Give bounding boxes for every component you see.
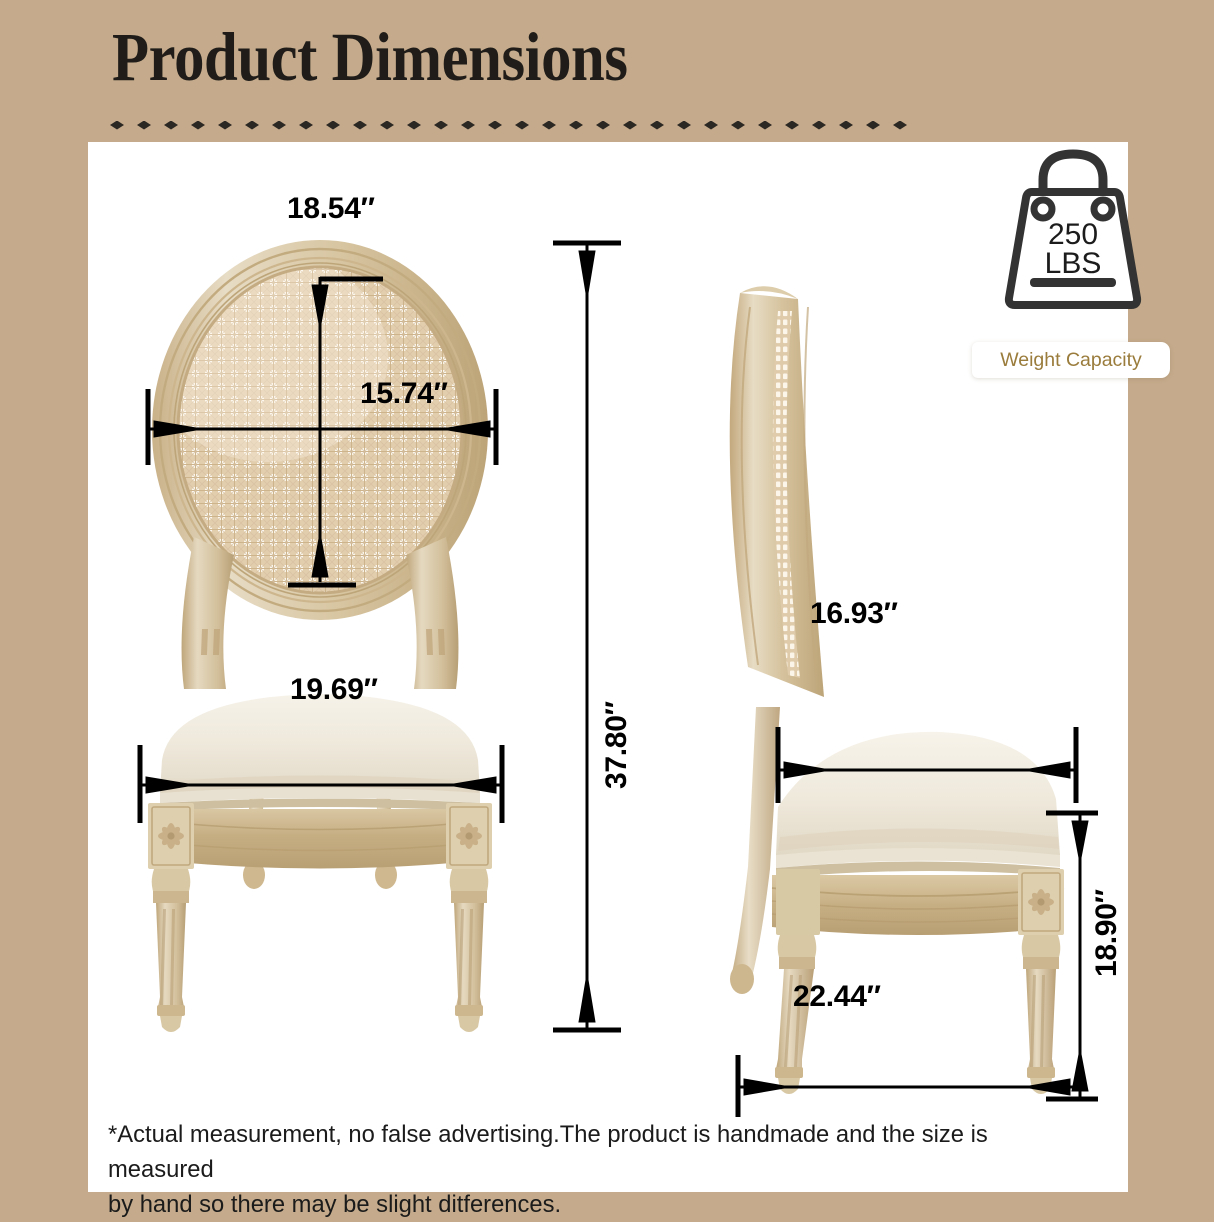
diamond-icon <box>245 121 259 130</box>
diamond-icon <box>353 121 367 130</box>
dimension-label-total-depth: 22.44″ <box>793 980 881 1014</box>
footnote-line-2: by hand so there may be slight ditferenc… <box>108 1188 1088 1222</box>
diamond-icon <box>137 121 151 130</box>
dimension-label-back-width: 15.74″ <box>360 377 448 411</box>
dimension-total-height <box>543 237 633 1047</box>
dimension-label-seat-depth: 16.93″ <box>810 597 898 631</box>
diamond-icon <box>515 121 529 130</box>
chair-front-view <box>98 237 618 1047</box>
diamond-icon <box>569 121 583 130</box>
diamond-icon <box>893 121 907 130</box>
diamond-icon <box>272 121 286 130</box>
footnote-line-1: *Actual measurement, no false advertisin… <box>108 1118 1088 1188</box>
diamond-icon <box>191 121 205 130</box>
dimension-label-seat-width: 19.69″ <box>290 673 378 707</box>
diamond-icon <box>623 121 637 130</box>
dimension-label-back-height: 18.54″ <box>287 192 375 226</box>
page-title: Product Dimensions <box>112 18 628 97</box>
diamond-icon <box>785 121 799 130</box>
diamond-icon <box>326 121 340 130</box>
dimension-label-total-height: 37.80″ <box>600 701 634 789</box>
weight-capacity-badge: 250 LBS Weight Capacity <box>998 146 1148 376</box>
diamond-icon <box>839 121 853 130</box>
dimension-label-seat-height: 18.90″ <box>1090 889 1124 977</box>
diamond-icon <box>866 121 880 130</box>
diamond-icon <box>164 121 178 130</box>
diamond-icon <box>461 121 475 130</box>
diamond-icon <box>704 121 718 130</box>
shopping-bag-icon: 250 LBS <box>998 146 1148 346</box>
diamond-icon <box>731 121 745 130</box>
diamond-icon <box>677 121 691 130</box>
diamond-icon <box>380 121 394 130</box>
diamond-icon <box>407 121 421 130</box>
diamond-icon <box>434 121 448 130</box>
diamond-icon <box>218 121 232 130</box>
weight-capacity-label: Weight Capacity <box>1000 349 1142 372</box>
infographic-root: Product Dimensions <box>0 0 1214 1214</box>
diamond-icon <box>488 121 502 130</box>
diamond-divider <box>110 116 910 134</box>
content-panel: 18.54″ 15.74″ 19.69″ 37.80″ 16.93″ 18.90… <box>88 142 1128 1192</box>
diamond-icon <box>812 121 826 130</box>
weight-capacity-pill: Weight Capacity <box>972 342 1170 378</box>
diamond-icon <box>650 121 664 130</box>
diamond-icon <box>758 121 772 130</box>
diamond-icon <box>596 121 610 130</box>
diamond-icon <box>299 121 313 130</box>
diamond-icon <box>110 121 124 130</box>
footnote: *Actual measurement, no false advertisin… <box>108 1118 1088 1222</box>
badge-unit: LBS <box>1045 247 1102 280</box>
diamond-icon <box>542 121 556 130</box>
